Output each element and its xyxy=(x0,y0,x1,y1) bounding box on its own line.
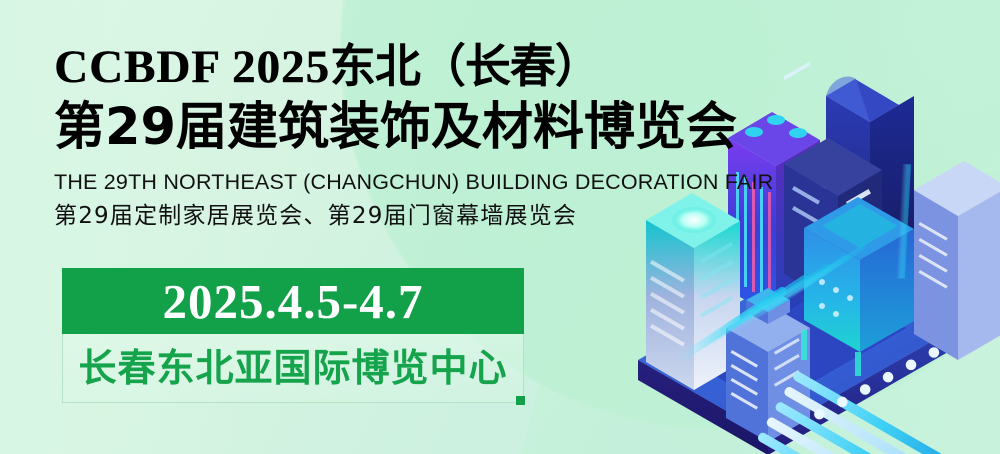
title-line-1: CCBDF 2025东北（长春） xyxy=(54,38,814,95)
pipe-lines xyxy=(756,347,972,454)
date-venue-block: 2025.4.5-4.7 长春东北亚国际博览中心 xyxy=(62,268,524,403)
subtitle-chinese: 第29届定制家居展览会、第29届门窗幕墙展览会 xyxy=(54,200,814,232)
subtitle-english: THE 29TH NORTHEAST (CHANGCHUN) BUILDING … xyxy=(54,168,814,196)
fair-promo-banner: CCBDF 2025东北（长春） 第29届建筑装饰及材料博览会 THE 29TH… xyxy=(0,0,1000,454)
venue-corner-accent xyxy=(516,396,525,405)
venue-badge: 长春东北亚国际博览中心 xyxy=(62,334,524,403)
date-badge: 2025.4.5-4.7 xyxy=(62,268,524,334)
event-acronym: CCBDF xyxy=(54,41,219,93)
headline-text-block: CCBDF 2025东北（长春） 第29届建筑装饰及材料博览会 THE 29TH… xyxy=(54,38,814,232)
event-year: 2025 xyxy=(219,41,330,93)
event-region-cn: 东北（长春） xyxy=(330,39,600,93)
title-line-2: 第29届建筑装饰及材料博览会 xyxy=(54,97,814,159)
event-date: 2025.4.5-4.7 xyxy=(162,277,423,326)
event-venue: 长春东北亚国际博览中心 xyxy=(78,348,507,388)
